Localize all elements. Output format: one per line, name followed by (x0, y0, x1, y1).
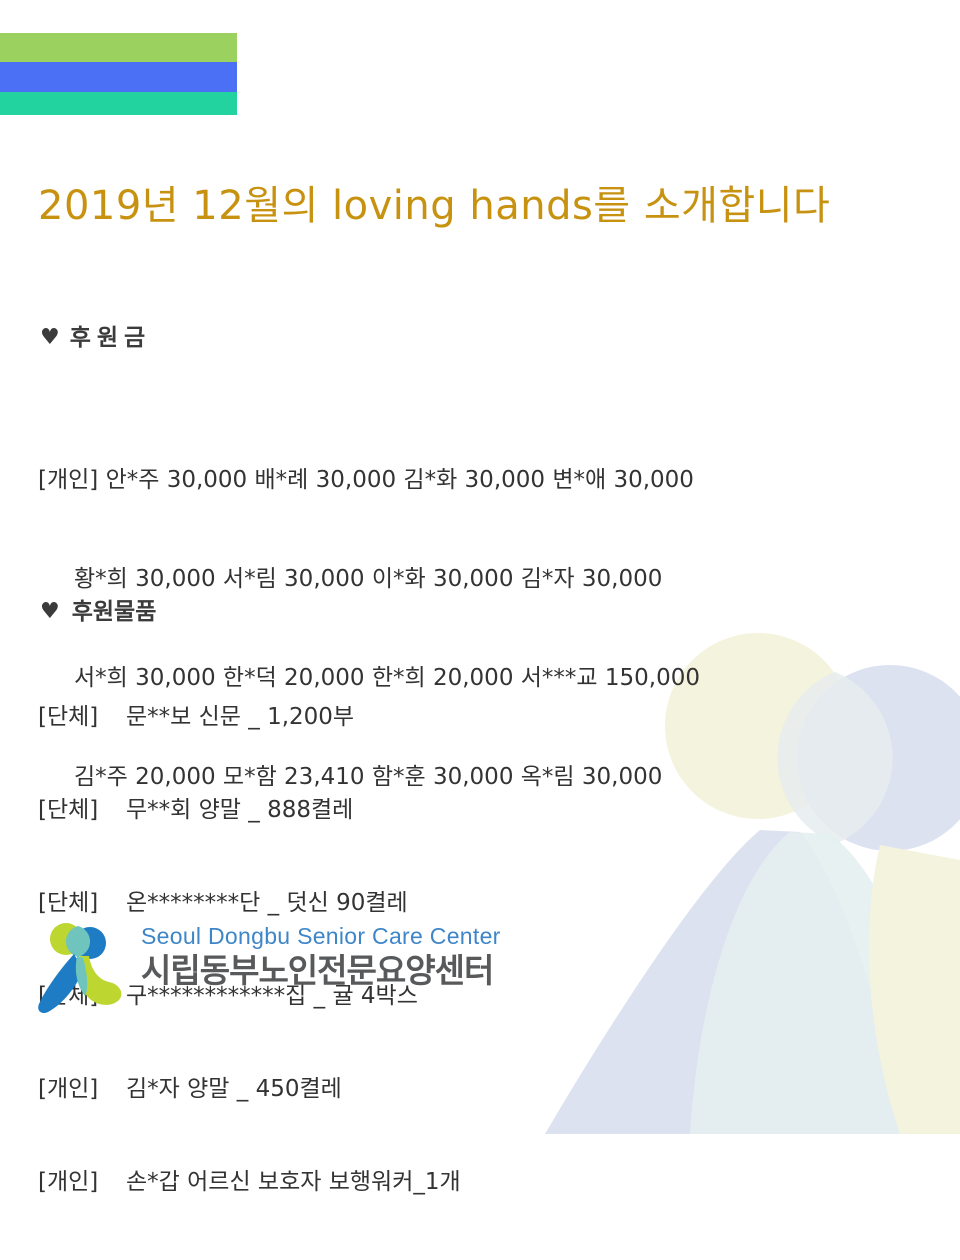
logo-english-name: Seoul Dongbu Senior Care Center (141, 922, 501, 950)
section-heading-label: 후원물품 (72, 599, 157, 625)
section-heading-donation-money: ♥후원금 (40, 318, 151, 352)
watermark-lavender-circle (797, 665, 960, 851)
blue-bar (0, 62, 237, 92)
watermark-yellow-body (869, 845, 960, 1134)
teal-bar (0, 92, 237, 115)
watermark-lavender-body (545, 830, 905, 1134)
goods-text: 온********단 _ 덧신 90켤레 (126, 890, 408, 916)
section-heading-donation-goods: ♥후원물품 (40, 592, 156, 626)
top-color-bars (0, 33, 237, 115)
heart-icon: ♥ (40, 599, 60, 624)
donor-type-tag: [개인] (38, 1167, 126, 1198)
donor-type-tag: [단체] (38, 702, 126, 733)
page-title: 2019년 12월의 loving hands를 소개합니다 (38, 173, 830, 231)
donation-line: [개인] 안*주 30,000 배*례 30,000 김*화 30,000 변*… (38, 464, 700, 497)
list-item: [단체]문**보 신문 _ 1,200부 (38, 702, 461, 733)
goods-text: 무**회 양말 _ 888켤레 (126, 797, 353, 823)
green-bar (0, 33, 237, 62)
donor-type-tag: [개인] (38, 1074, 126, 1105)
donor-type-tag: [단체] (38, 795, 126, 826)
list-item: [단체]온********단 _ 덧신 90켤레 (38, 888, 461, 919)
list-item: [개인]손*갑 어르신 보호자 보행워커_1개 (38, 1167, 461, 1198)
section-heading-label: 후원금 (70, 325, 151, 351)
goods-text: 문**보 신문 _ 1,200부 (126, 704, 354, 730)
donor-type-tag: [단체] (38, 888, 126, 919)
list-item: [개인]김*자 양말 _ 450켤레 (38, 1074, 461, 1105)
goods-text: 김*자 양말 _ 450켤레 (126, 1076, 342, 1102)
goods-text: 손*갑 어르신 보호자 보행워커_1개 (126, 1169, 461, 1195)
watermark-teal-body (690, 832, 940, 1134)
logo-text-block: Seoul Dongbu Senior Care Center 시립동부노인전문… (141, 922, 501, 990)
heart-icon: ♥ (40, 325, 60, 350)
organization-logo: Seoul Dongbu Senior Care Center 시립동부노인전문… (33, 920, 483, 1020)
list-item: [단체]무**회 양말 _ 888켤레 (38, 795, 461, 826)
watermark-overlap (777, 672, 892, 844)
logo-mark-icon (33, 920, 129, 1016)
logo-korean-name: 시립동부노인전문요양센터 (141, 952, 501, 990)
